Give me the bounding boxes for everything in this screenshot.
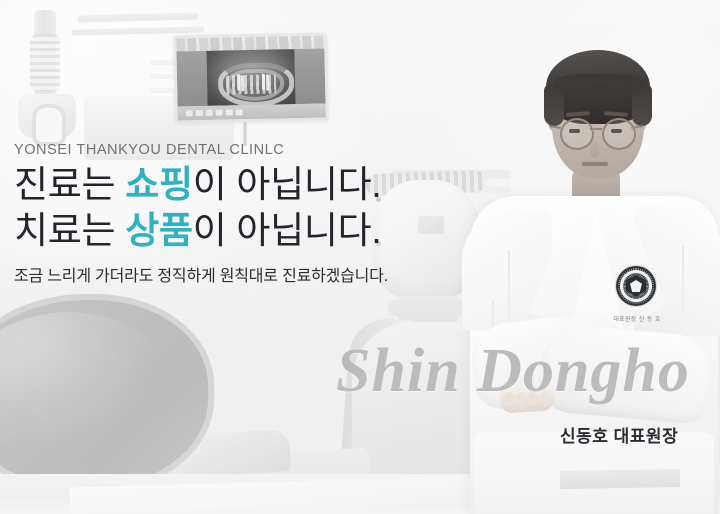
hair-fringe xyxy=(554,74,644,100)
dental-implant-marker xyxy=(261,74,264,90)
nose xyxy=(590,140,599,158)
monitor-toolbar-button xyxy=(236,109,243,115)
glasses-bridge xyxy=(590,128,602,130)
monitor-toolbar-button xyxy=(196,110,203,116)
headline-line-2-suffix: 이 아닙니다. xyxy=(193,210,382,251)
panoramic-xray-image xyxy=(206,49,295,106)
monitor-toolbar-button xyxy=(226,109,233,115)
waist-belt xyxy=(560,469,680,489)
equipment-coiled-hose xyxy=(30,34,60,92)
dental-implant-marker xyxy=(237,74,240,90)
operatory-light-logo xyxy=(418,216,444,234)
coat-embroidered-name: 대표원장 신 동 호 xyxy=(606,314,668,323)
signature-script: Shin Dongho xyxy=(336,340,690,402)
coat-fold xyxy=(682,246,684,328)
xray-side-panel xyxy=(176,51,207,107)
doctor-name-label: 신동호 대표원장 xyxy=(560,422,678,447)
headline-line-2-prefix: 치료는 xyxy=(14,210,125,251)
equipment-handle-loop xyxy=(32,104,66,146)
mouth xyxy=(582,162,608,166)
headline-line-2-highlight: 상품 xyxy=(125,210,192,251)
glasses-lens-right xyxy=(602,118,636,150)
yonsei-crest-icon xyxy=(616,266,656,306)
monitor-toolbar-button xyxy=(206,110,213,116)
monitor-toolbar xyxy=(178,103,326,120)
xray-monitor xyxy=(173,32,329,123)
xray-side-panel xyxy=(294,48,325,104)
headline-line-2: 치료는 상품이 아닙니다. xyxy=(14,212,381,249)
headline-subline: 조금 느리게 가더라도 정직하게 원칙대로 진료하겠습니다. xyxy=(14,262,388,286)
clinic-hero-banner: 대표원장 신 동 호 Shin Dongho YONSEI THANKYOU D… xyxy=(0,0,720,514)
headline-line-1-suffix: 이 아닙니다. xyxy=(193,164,382,205)
dental-implant-marker xyxy=(266,74,269,90)
headrest-highlight xyxy=(0,312,174,462)
headline-line-1-highlight: 쇼핑 xyxy=(125,164,192,205)
glasses-lens-left xyxy=(560,118,594,150)
monitor-toolbar-button xyxy=(186,110,193,116)
headline-line-1: 진료는 쇼핑이 아닙니다. xyxy=(14,166,381,203)
clinic-name-eyebrow: YONSEI THANKYOU DENTAL CLINLC xyxy=(14,142,284,158)
headline-line-1-prefix: 진료는 xyxy=(14,164,125,205)
monitor-toolbar-button xyxy=(216,110,223,116)
